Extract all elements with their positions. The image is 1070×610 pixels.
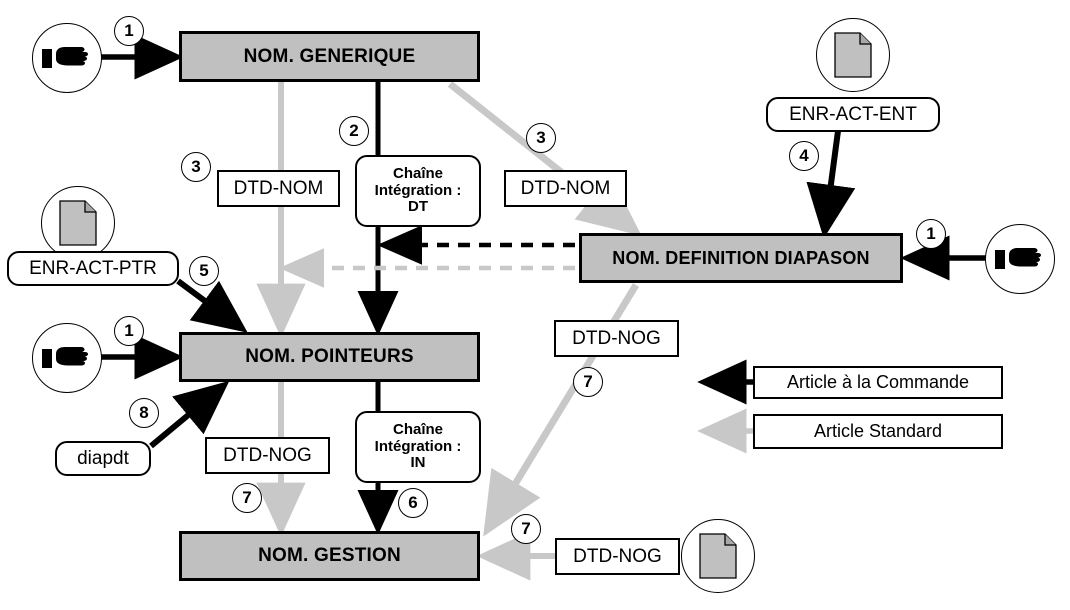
rounded-label-diapdt[interactable]: diapdt (55, 441, 151, 476)
step-circle-6: 6 (398, 488, 428, 518)
step-circle-3-right: 3 (526, 123, 556, 153)
pointing-hand-icon (994, 242, 1046, 276)
flow-label-text: DTD-NOM (521, 178, 611, 200)
rounded-label-text: ENR-ACT-PTR (29, 258, 157, 280)
step-number: 1 (124, 21, 133, 41)
step-circle-7-bottom: 7 (511, 514, 541, 544)
step-circle-1-pointeurs: 1 (114, 316, 144, 346)
flow-enr-act-ent-to-diapason (825, 131, 838, 229)
rounded-label-text: ENR-ACT-ENT (789, 104, 917, 126)
step-number: 7 (583, 372, 592, 392)
step-number: 3 (536, 128, 545, 148)
flow-label-text: DTD-NOG (572, 328, 661, 350)
flow-label-text: DTD-NOM (234, 178, 324, 200)
legend-item-article-commande[interactable]: Article à la Commande (753, 366, 1003, 399)
step-number: 4 (799, 146, 808, 166)
flow-label-dtd-nog-left[interactable]: DTD-NOG (205, 437, 330, 474)
chain-box-line2: Intégration : (375, 183, 462, 200)
hand-icon-circle-generique (32, 23, 102, 93)
flow-label-dtd-nog-bottom[interactable]: DTD-NOG (555, 538, 680, 575)
step-circle-8: 8 (129, 398, 159, 428)
chain-box-line3: DT (408, 199, 428, 216)
step-circle-5: 5 (189, 256, 219, 286)
legend-label: Article Standard (814, 421, 942, 442)
chain-box-chaine-in[interactable]: Chaîne Intégration : IN (355, 411, 481, 483)
process-box-label: NOM. GENERIQUE (244, 46, 416, 68)
process-box-nom-definition-diapason[interactable]: NOM. DEFINITION DIAPASON (579, 233, 903, 283)
flow-label-dtd-nom-left[interactable]: DTD-NOM (217, 170, 340, 207)
document-icon (834, 32, 872, 78)
process-box-nom-pointeurs[interactable]: NOM. POINTEURS (179, 332, 480, 382)
chain-box-line2: Intégration : (375, 439, 462, 456)
flow-enr-act-ptr-to-pointeurs (178, 281, 240, 327)
step-number: 1 (124, 321, 133, 341)
document-icon-circle-dtd-nog-bottom (681, 519, 755, 593)
hand-icon-circle-pointeurs (32, 323, 102, 393)
step-circle-7-left: 7 (232, 483, 262, 513)
document-icon-circle-enr-act-ent (816, 18, 890, 92)
step-number: 6 (408, 493, 417, 513)
step-circle-3-left: 3 (181, 152, 211, 182)
flow-label-dtd-nom-right[interactable]: DTD-NOM (504, 170, 627, 207)
step-circle-7-right: 7 (573, 367, 603, 397)
document-icon-circle-enr-act-ptr (41, 186, 115, 260)
step-number: 8 (139, 403, 148, 423)
step-number: 3 (191, 157, 200, 177)
legend-label: Article à la Commande (787, 372, 969, 393)
chain-box-line1: Chaîne (393, 166, 443, 183)
diagram-canvas: NOM. GENERIQUE NOM. POINTEURS NOM. GESTI… (0, 0, 1070, 610)
document-icon (699, 533, 737, 579)
flow-label-text: DTD-NOG (223, 445, 312, 467)
hand-icon-circle-diapason (985, 224, 1055, 294)
chain-box-line1: Chaîne (393, 422, 443, 439)
pointing-hand-icon (41, 41, 93, 75)
document-icon (59, 200, 97, 246)
process-box-label: NOM. DEFINITION DIAPASON (612, 248, 869, 269)
process-box-label: NOM. GESTION (258, 545, 401, 567)
step-number: 2 (349, 121, 358, 141)
step-number: 7 (242, 488, 251, 508)
step-circle-4: 4 (789, 141, 819, 171)
step-circle-1-diapason: 1 (916, 219, 946, 249)
process-box-label: NOM. POINTEURS (245, 346, 414, 368)
step-number: 1 (926, 224, 935, 244)
step-circle-1-generique: 1 (114, 16, 144, 46)
chain-box-chaine-dt[interactable]: Chaîne Intégration : DT (355, 155, 481, 227)
legend-item-article-standard[interactable]: Article Standard (753, 414, 1003, 449)
flow-label-dtd-nog-middle[interactable]: DTD-NOG (554, 320, 679, 357)
chain-box-line3: IN (411, 455, 426, 472)
flow-label-text: DTD-NOG (573, 546, 662, 568)
step-number: 7 (521, 519, 530, 539)
process-box-nom-gestion[interactable]: NOM. GESTION (179, 531, 480, 581)
process-box-nom-generique[interactable]: NOM. GENERIQUE (179, 31, 480, 82)
rounded-label-enr-act-ptr[interactable]: ENR-ACT-PTR (7, 251, 179, 286)
pointing-hand-icon (41, 341, 93, 375)
step-circle-2: 2 (339, 116, 369, 146)
rounded-label-text: diapdt (77, 448, 129, 470)
rounded-label-enr-act-ent[interactable]: ENR-ACT-ENT (766, 97, 940, 132)
step-number: 5 (199, 261, 208, 281)
